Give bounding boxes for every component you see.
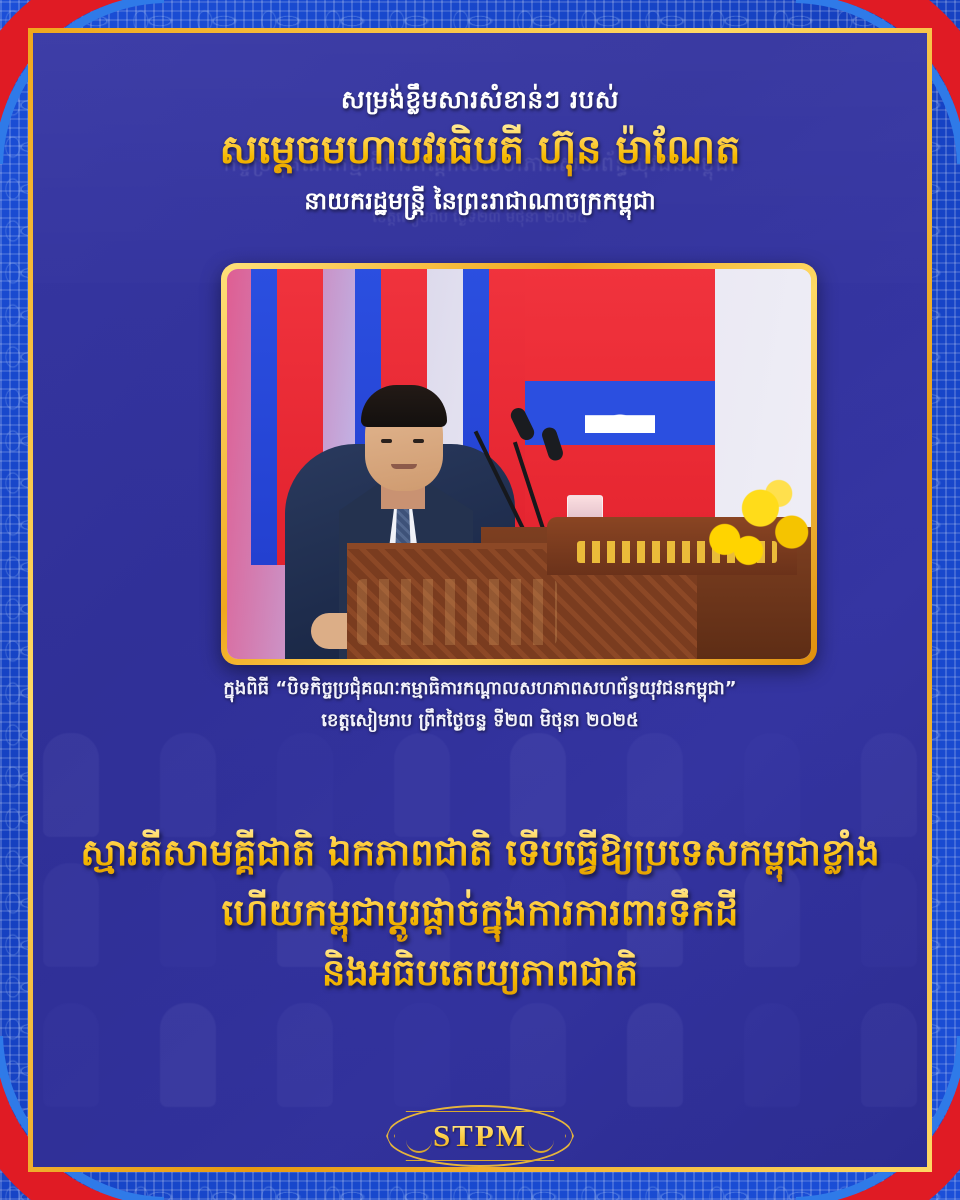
quote-line-3: និងអធិបតេយ្យភាពជាតិ [33,943,927,1003]
yellow-flowers [701,475,809,567]
inner-panel: កិច្ចប្រជុំគណៈកម្មាធិការកណ្តាលសហភាពសហព័ន… [33,33,927,1167]
header-line-1: សម្រង់ខ្លឹមសារសំខាន់ៗ របស់ [33,81,927,119]
header-block: សម្រង់ខ្លឹមសារសំខាន់ៗ របស់ សម្តេចមហាបវរធ… [33,81,927,219]
podium-carving [357,579,557,645]
header-title: សម្តេចមហាបវរធិបតី ហ៊ុន ម៉ាណែត [33,121,927,179]
header-subtitle: នាយករដ្ឋមន្ត្រី នៃព្រះរាជាណាចក្រកម្ពុជា [33,183,927,219]
caption-block: ក្នុងពិធី “បិទកិច្ចប្រជុំគណៈកម្មាធិការកណ… [33,673,927,736]
speech-photo [227,269,811,659]
quote-line-2: ហើយកម្ពុជាប្តូរផ្តាច់ក្នុងការការពារទឹកដី [33,883,927,943]
quote-line-1: ស្មារតីសាមគ្គីជាតិ ឯកភាពជាតិ ទើបធ្វើឱ្យប… [33,823,927,883]
photo-frame [221,263,817,665]
logo-text: STPM [433,1118,527,1154]
stpm-logo: STPM [386,1105,574,1167]
quote-block: ស្មារតីសាមគ្គីជាតិ ឯកភាពជាតិ ទើបធ្វើឱ្យប… [33,823,927,1003]
poster-canvas: កិច្ចប្រជុំគណៈកម្មាធិការកណ្តាលសហភាពសហព័ន… [0,0,960,1200]
caption-line-1: ក្នុងពិធី “បិទកិច្ចប្រជុំគណៈកម្មាធិការកណ… [33,673,927,705]
caption-line-2: ខេត្តសៀមរាប ព្រឹកថ្ងៃចន្ទ ទី២៣ មិថុនា ២០… [33,705,927,737]
